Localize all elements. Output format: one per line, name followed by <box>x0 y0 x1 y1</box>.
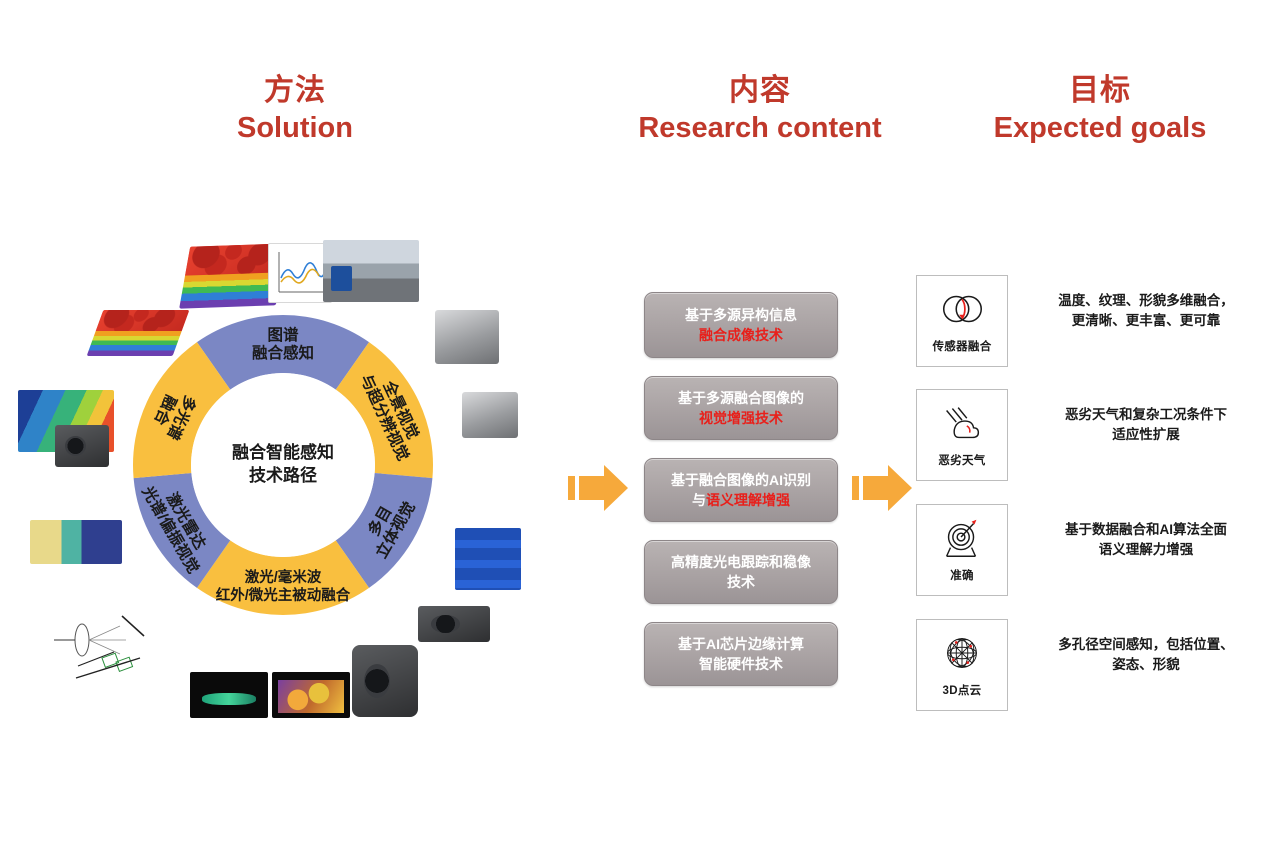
wheel-label-line: 红外/微光主被动融合 <box>216 586 351 604</box>
goal-card-accuracy[interactable]: 准确 <box>916 504 1008 596</box>
goal-text-bad-weather: 恶劣天气和复杂工况条件下 适应性扩展 <box>1032 405 1260 446</box>
header-en-goals: Expected goals <box>940 112 1260 144</box>
goal-text-line1-0: 温度、纹理、形貌多维融合， <box>1032 291 1260 311</box>
goal-text-sensor-fusion: 温度、纹理、形貌多维融合， 更清晰、更丰富、更可靠 <box>1032 291 1260 332</box>
goal-caption-point-cloud: 3D点云 <box>943 682 982 698</box>
research-box-line1: 基于多源融合图像的 <box>678 388 804 408</box>
lidar-point-cloud-thumb <box>190 672 268 718</box>
goal-caption-sensor-fusion: 传感器融合 <box>933 338 992 354</box>
header-cn-content: 内容 <box>560 74 960 108</box>
research-box-line2-text: 智能硬件技术 <box>699 656 783 672</box>
research-box-line2: 智能硬件技术 <box>678 654 804 674</box>
goal-card-sensor-fusion[interactable]: 传感器融合 <box>916 275 1008 367</box>
research-box-line1: 基于多源异构信息 <box>685 305 797 325</box>
laser-module-thumb <box>30 520 122 564</box>
column-header-solution: 方法 Solution <box>150 74 440 144</box>
sensor-fusion-icon <box>937 286 987 332</box>
goal-text-line2-3: 姿态、形貌 <box>1032 655 1260 675</box>
research-box-line2-text: 技术 <box>727 574 755 590</box>
header-en-solution: Solution <box>150 112 440 144</box>
spectral-curve-icon <box>269 244 331 302</box>
column-header-research-content: 内容 Research content <box>560 74 960 144</box>
research-box-5[interactable]: 基于AI芯片边缘计算智能硬件技术 <box>644 622 838 686</box>
research-box-line2: 融合成像技术 <box>685 325 797 345</box>
bad-weather-icon <box>937 400 987 446</box>
infrared-scene-thumb <box>272 672 350 718</box>
arrow-solution-to-content <box>568 462 630 514</box>
column-header-expected-goals: 目标 Expected goals <box>940 74 1260 144</box>
goal-card-point-cloud[interactable]: 3D点云 <box>916 619 1008 711</box>
goal-text-line2-2: 语义理解力增强 <box>1032 540 1260 560</box>
research-box-line1: 高精度光电跟踪和稳像 <box>671 552 811 572</box>
research-box-line2-prefix: 与 <box>692 492 706 508</box>
goal-text-point-cloud: 多孔径空间感知，包括位置、 姿态、形貌 <box>1032 635 1260 676</box>
diagram-canvas: 方法 Solution 内容 Research content 目标 Expec… <box>0 0 1268 866</box>
header-cn-solution: 方法 <box>150 74 440 108</box>
wheel-center-line1: 融合智能感知 <box>188 442 378 465</box>
goal-text-line1-2: 基于数据融合和AI算法全面 <box>1032 520 1260 540</box>
research-box-line1: 基于融合图像的AI识别 <box>671 470 811 490</box>
goal-text-line2-0: 更清晰、更丰富、更可靠 <box>1032 311 1260 331</box>
research-box-line2: 技术 <box>671 572 811 592</box>
research-box-2[interactable]: 基于多源融合图像的视觉增强技术 <box>644 376 838 440</box>
goal-row-bad-weather: 恶劣天气 恶劣天气和复杂工况条件下 适应性扩展 <box>916 389 1260 481</box>
pcb-board-thumb <box>455 528 521 590</box>
research-box-line1: 基于AI芯片边缘计算 <box>678 634 804 654</box>
research-box-line2-text: 融合成像技术 <box>699 327 783 343</box>
wheel-label-line: 激光/毫米波 <box>245 568 322 586</box>
industrial-pipe-photo-thumb <box>323 240 419 302</box>
wheel-label-line: 融合感知 <box>252 343 314 362</box>
target-accuracy-icon <box>937 515 987 561</box>
wheel-center-line2: 技术路径 <box>188 465 378 488</box>
research-box-line2: 与语义理解增强 <box>671 490 811 510</box>
goal-card-bad-weather[interactable]: 恶劣天气 <box>916 389 1008 481</box>
goal-caption-accuracy: 准确 <box>950 567 974 583</box>
goal-text-line1-1: 恶劣天气和复杂工况条件下 <box>1032 405 1260 425</box>
header-cn-goals: 目标 <box>940 74 1260 108</box>
header-en-content: Research content <box>560 112 960 144</box>
goal-text-line1-3: 多孔径空间感知，包括位置、 <box>1032 635 1260 655</box>
research-box-line2: 视觉增强技术 <box>678 408 804 428</box>
technology-roadmap-wheel: 图谱融合感知全景视觉与超分辨视觉多目立体视觉激光/毫米波红外/微光主被动融合激光… <box>118 300 448 630</box>
goal-text-accuracy: 基于数据融合和AI算法全面 语义理解力增强 <box>1032 520 1260 561</box>
research-box-4[interactable]: 高精度光电跟踪和稳像技术 <box>644 540 838 604</box>
right-arrow-icon <box>568 462 630 514</box>
goal-row-sensor-fusion: 传感器融合 温度、纹理、形貌多维融合， 更清晰、更丰富、更可靠 <box>916 275 1260 367</box>
goal-row-accuracy: 准确 基于数据融合和AI算法全面 语义理解力增强 <box>916 504 1260 596</box>
optical-instrument-thumb <box>462 392 518 438</box>
point-cloud-icon <box>937 630 987 676</box>
arrow-content-to-goals <box>852 462 914 514</box>
research-box-line2-text: 视觉增强技术 <box>699 410 783 426</box>
right-arrow-icon-2 <box>852 462 914 514</box>
wheel-center-label: 融合智能感知 技术路径 <box>188 442 378 488</box>
goal-caption-bad-weather: 恶劣天气 <box>938 452 985 468</box>
research-box-line2-text: 语义理解增强 <box>706 492 790 508</box>
gimbal-eo-ir-turret-thumb <box>352 645 418 717</box>
research-box-3[interactable]: 基于融合图像的AI识别与语义理解增强 <box>644 458 838 522</box>
wheel-label-line: 图谱 <box>267 325 299 344</box>
goal-row-point-cloud: 3D点云 多孔径空间感知，包括位置、 姿态、形貌 <box>916 619 1260 711</box>
research-box-1[interactable]: 基于多源异构信息融合成像技术 <box>644 292 838 358</box>
industrial-camera-thumb-left <box>55 425 109 467</box>
goal-text-line2-1: 适应性扩展 <box>1032 425 1260 445</box>
